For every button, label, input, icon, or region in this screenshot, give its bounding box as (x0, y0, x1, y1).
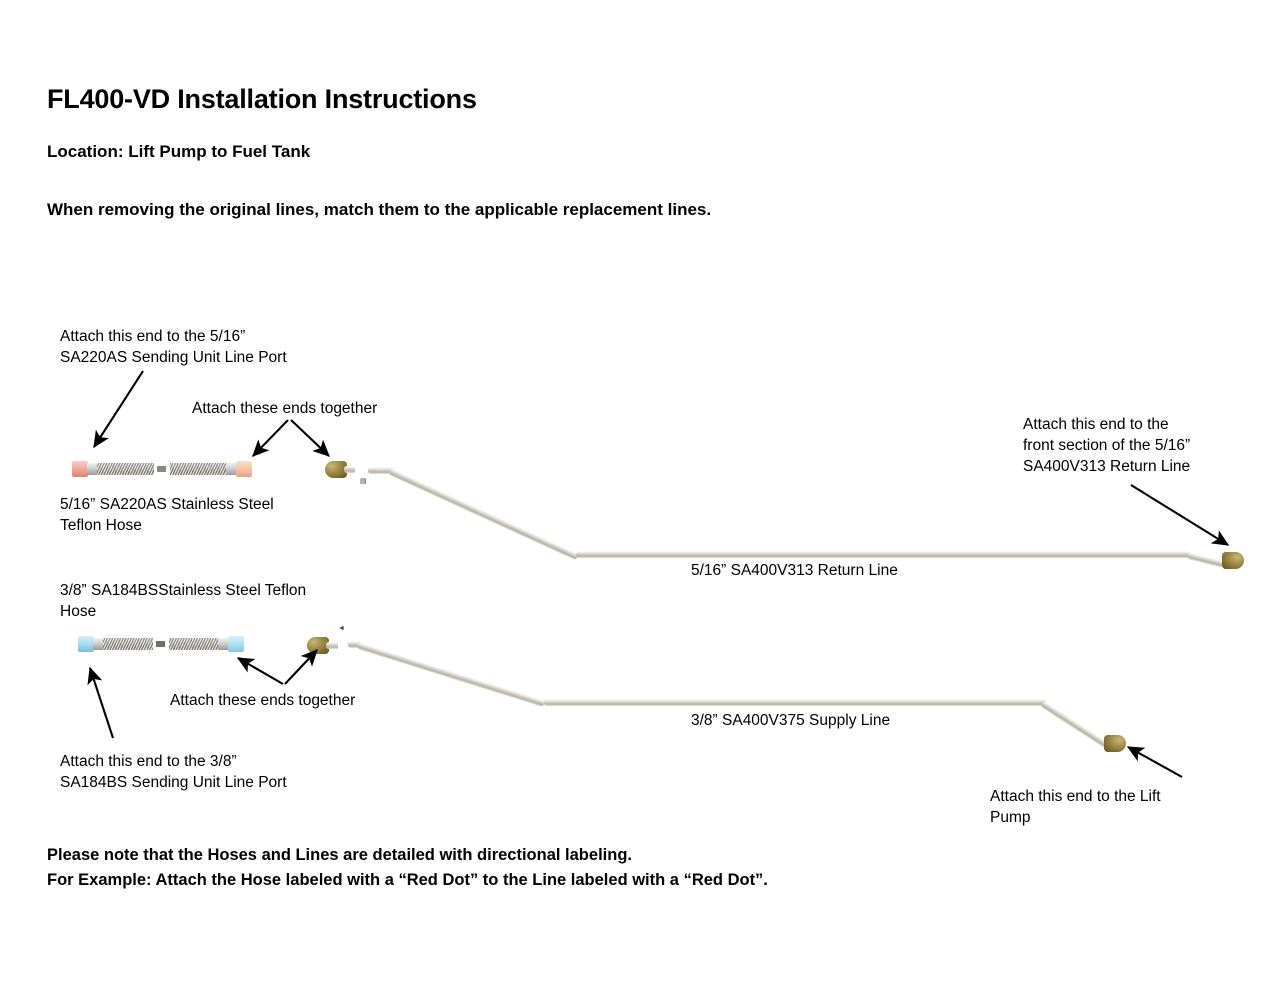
callout-lower-join: Attach these ends together (170, 690, 355, 711)
hose-center-label-sa184bs (153, 636, 169, 652)
supply-line-segment-horizontal-right (544, 699, 1046, 706)
arrow-upper-join-left (253, 420, 288, 456)
arrow-lower-join-left (238, 658, 283, 684)
arrow-upper-hose-end (94, 371, 143, 447)
hose-endcap-left-sa184bs (78, 636, 94, 652)
supply-line-segment-diagonal (357, 642, 545, 707)
callout-lower-line-end-line2: Pump (990, 807, 1161, 828)
page-title: FL400-VD Installation Instructions (47, 84, 477, 115)
label-hose-sa184bs-line2: Hose (60, 601, 306, 622)
supply-line-direction-tag: ◄ (338, 625, 345, 632)
hose-sa184bs-3-8 (78, 634, 244, 654)
callout-lower-line-end-line1: Attach this end to the Lift (990, 786, 1161, 807)
label-hose-sa184bs: 3/8” SA184BSStainless Steel Teflon Hose (60, 580, 306, 622)
return-line-segment-drop-right (1187, 552, 1225, 568)
callout-upper-join: Attach these ends together (192, 398, 377, 419)
hose-endcap-right-sa220as (236, 461, 252, 477)
callout-upper-hose-end-line1: Attach this end to the 5/16” (60, 326, 287, 347)
hose-endcap-right-sa184bs (228, 636, 244, 652)
return-line-band (355, 460, 369, 474)
label-hose-sa220as-line2: Teflon Hose (60, 515, 274, 536)
callout-upper-hose-end: Attach this end to the 5/16” SA220AS Sen… (60, 326, 287, 368)
location-subtitle: Location: Lift Pump to Fuel Tank (47, 142, 310, 162)
callout-upper-line-end-line1: Attach this end to the (1023, 414, 1190, 435)
callout-lower-hose-end-line1: Attach this end to the 3/8” (60, 751, 287, 772)
fitting-return-line-right (1222, 552, 1244, 569)
directional-labeling-note: Please note that the Hoses and Lines are… (47, 843, 768, 893)
label-supply-line-sa400v375: 3/8” SA400V375 Supply Line (691, 710, 890, 731)
installation-instructions-page: FL400-VD Installation Instructions Locat… (0, 0, 1280, 989)
matching-instruction: When removing the original lines, match … (47, 200, 711, 220)
label-hose-sa220as: 5/16” SA220AS Stainless Steel Teflon Hos… (60, 494, 274, 536)
callout-upper-line-end-line3: SA400V313 Return Line (1023, 456, 1190, 477)
return-line-direction-tag: ▤ (360, 477, 367, 485)
callout-lower-hose-end-line2: SA184BS Sending Unit Line Port (60, 772, 287, 793)
return-line-segment-diagonal (389, 468, 579, 560)
label-hose-sa184bs-line1: 3/8” SA184BSStainless Steel Teflon (60, 580, 306, 601)
label-hose-sa220as-line1: 5/16” SA220AS Stainless Steel (60, 494, 274, 515)
arrow-upper-join-right (291, 420, 329, 456)
arrow-lower-join-right (285, 650, 317, 684)
callout-upper-line-end-line2: front section of the 5/16” (1023, 435, 1190, 456)
arrow-lower-hose-end (90, 668, 113, 738)
fitting-supply-line-right (1104, 735, 1126, 752)
supply-line-segment-drop-right (1040, 701, 1109, 749)
callout-upper-hose-end-line2: SA220AS Sending Unit Line Port (60, 347, 287, 368)
return-line-segment-horizontal-right (576, 551, 1190, 558)
arrow-upper-line-end (1131, 485, 1228, 545)
callout-lower-hose-end: Attach this end to the 3/8” SA184BS Send… (60, 751, 287, 793)
note-line-1: Please note that the Hoses and Lines are… (47, 843, 768, 868)
note-line-2: For Example: Attach the Hose labeled wit… (47, 868, 768, 893)
callout-lower-line-end: Attach this end to the Lift Pump (990, 786, 1161, 828)
hose-endcap-left-sa220as (72, 461, 88, 477)
hose-center-label-sa220as (154, 461, 170, 477)
arrow-lower-line-end (1128, 747, 1182, 777)
callout-upper-line-end: Attach this end to the front section of … (1023, 414, 1190, 477)
label-return-line-sa400v313: 5/16” SA400V313 Return Line (691, 560, 898, 581)
hose-sa220as-5-16 (72, 459, 252, 479)
